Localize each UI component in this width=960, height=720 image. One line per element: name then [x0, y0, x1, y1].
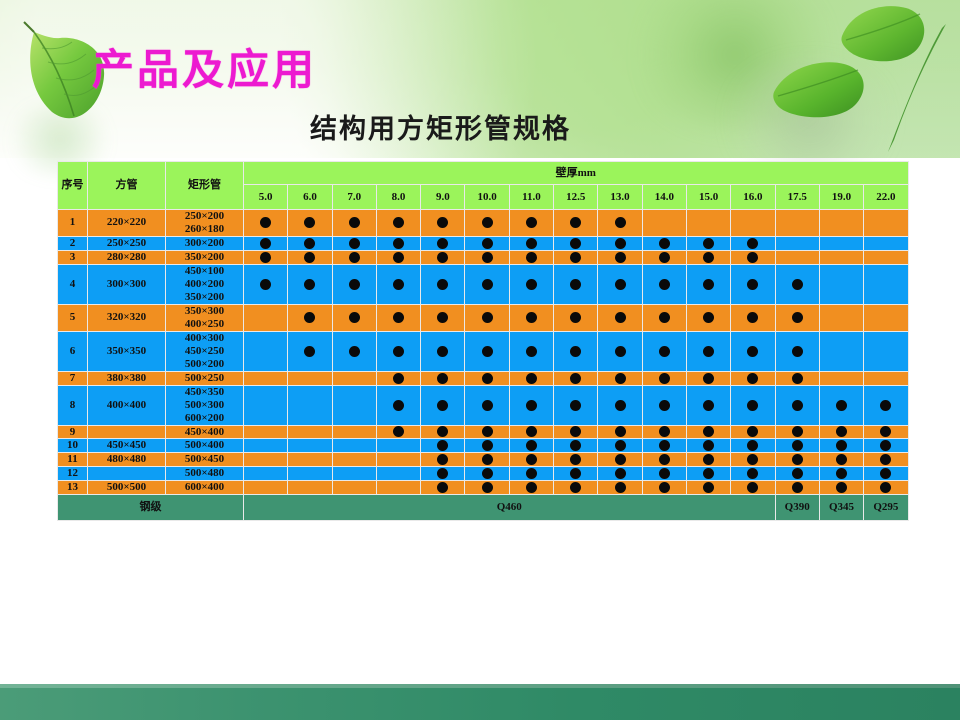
- cell-dot-marked: [598, 481, 642, 495]
- cell-index: 5: [58, 304, 88, 331]
- dot-icon: [349, 279, 360, 290]
- dot-icon: [792, 426, 803, 437]
- cell-dot-empty: [819, 371, 863, 385]
- cell-square-tube: 450×450: [88, 439, 166, 453]
- dot-icon: [703, 279, 714, 290]
- cell-dot-marked: [509, 250, 553, 264]
- cell-dot-marked: [465, 304, 509, 331]
- cell-dot-marked: [775, 304, 819, 331]
- dot-icon: [792, 312, 803, 323]
- cell-dot-marked: [686, 439, 730, 453]
- cell-dot-marked: [509, 385, 553, 425]
- cell-dot-marked: [554, 250, 598, 264]
- dot-icon: [659, 426, 670, 437]
- cell-dot-marked: [642, 467, 686, 481]
- cell-dot-marked: [598, 439, 642, 453]
- cell-dot-marked: [598, 425, 642, 439]
- col-header-thickness-15.0: 15.0: [686, 185, 730, 210]
- table-row: 2250×250300×200: [58, 236, 909, 250]
- cell-dot-marked: [819, 481, 863, 495]
- cell-rect-tube: 350×300400×250: [166, 304, 244, 331]
- cell-dot-marked: [819, 425, 863, 439]
- cell-dot-marked: [509, 481, 553, 495]
- dot-icon: [836, 426, 847, 437]
- cell-dot-marked: [244, 236, 288, 250]
- cell-dot-marked: [509, 210, 553, 237]
- cell-dot-marked: [421, 453, 465, 467]
- cell-rect-tube: 450×400: [166, 425, 244, 439]
- dot-icon: [659, 482, 670, 493]
- cell-dot-marked: [288, 250, 332, 264]
- col-header-thickness-17.5: 17.5: [775, 185, 819, 210]
- dot-icon: [659, 454, 670, 465]
- cell-rect-tube: 250×200260×180: [166, 210, 244, 237]
- col-header-rect-tube: 矩形管: [166, 162, 244, 210]
- cell-dot-marked: [642, 371, 686, 385]
- dot-icon: [482, 400, 493, 411]
- cell-dot-empty: [244, 453, 288, 467]
- dot-icon: [880, 426, 891, 437]
- dot-icon: [836, 482, 847, 493]
- cell-dot-marked: [376, 385, 420, 425]
- dot-icon: [615, 373, 626, 384]
- rect-spec-line: 400×300: [166, 332, 243, 345]
- cell-dot-marked: [642, 439, 686, 453]
- cell-index: 1: [58, 210, 88, 237]
- cell-rect-tube: 450×350500×300600×200: [166, 385, 244, 425]
- dot-icon: [570, 346, 581, 357]
- dot-icon: [437, 217, 448, 228]
- cell-dot-marked: [376, 425, 420, 439]
- dot-icon: [304, 217, 315, 228]
- table-row: 10450×450500×400: [58, 439, 909, 453]
- cell-dot-marked: [421, 264, 465, 304]
- rect-spec-line: 450×400: [166, 426, 243, 439]
- rect-spec-line: 500×480: [166, 467, 243, 480]
- dot-icon: [482, 346, 493, 357]
- dot-icon: [260, 279, 271, 290]
- cell-dot-marked: [554, 264, 598, 304]
- cell-dot-empty: [642, 210, 686, 237]
- cell-dot-marked: [731, 467, 775, 481]
- cell-dot-empty: [244, 331, 288, 371]
- cell-index: 2: [58, 236, 88, 250]
- cell-rect-tube: 600×400: [166, 481, 244, 495]
- rect-spec-line: 350×300: [166, 305, 243, 318]
- dot-icon: [482, 482, 493, 493]
- cell-square-tube: 320×320: [88, 304, 166, 331]
- cell-dot-marked: [731, 453, 775, 467]
- rect-spec-line: 300×200: [166, 237, 243, 250]
- dot-icon: [792, 454, 803, 465]
- cell-dot-marked: [864, 385, 908, 425]
- dot-icon: [570, 400, 581, 411]
- cell-dot-marked: [376, 371, 420, 385]
- dot-icon: [260, 217, 271, 228]
- cell-dot-empty: [819, 264, 863, 304]
- dot-icon: [703, 468, 714, 479]
- dot-icon: [482, 454, 493, 465]
- rect-spec-line: 600×200: [166, 412, 243, 425]
- dot-icon: [437, 238, 448, 249]
- cell-dot-marked: [731, 481, 775, 495]
- cell-rect-tube: 500×250: [166, 371, 244, 385]
- cell-dot-marked: [598, 331, 642, 371]
- cell-dot-marked: [465, 236, 509, 250]
- cell-dot-empty: [332, 371, 376, 385]
- cell-dot-empty: [244, 385, 288, 425]
- rect-spec-line: 500×200: [166, 358, 243, 371]
- dot-icon: [482, 468, 493, 479]
- cell-dot-marked: [731, 371, 775, 385]
- dot-icon: [703, 482, 714, 493]
- dot-icon: [703, 252, 714, 263]
- cell-square-tube: 350×350: [88, 331, 166, 371]
- dot-icon: [393, 426, 404, 437]
- dot-icon: [349, 238, 360, 249]
- col-header-thickness-12.5: 12.5: [554, 185, 598, 210]
- cell-dot-empty: [864, 236, 908, 250]
- table-body: 1220×220250×200260×1802250×250300×200328…: [58, 210, 909, 495]
- cell-dot-marked: [642, 264, 686, 304]
- cell-dot-empty: [819, 304, 863, 331]
- dot-icon: [482, 426, 493, 437]
- cell-rect-tube: 500×480: [166, 467, 244, 481]
- cell-dot-empty: [775, 210, 819, 237]
- dot-icon: [526, 373, 537, 384]
- table-row: 1220×220250×200260×180: [58, 210, 909, 237]
- cell-dot-empty: [244, 481, 288, 495]
- col-header-thickness-14.0: 14.0: [642, 185, 686, 210]
- cell-dot-marked: [465, 264, 509, 304]
- dot-icon: [792, 400, 803, 411]
- dot-icon: [747, 482, 758, 493]
- dot-icon: [703, 440, 714, 451]
- cell-dot-marked: [288, 331, 332, 371]
- cell-dot-marked: [642, 304, 686, 331]
- cell-dot-marked: [421, 371, 465, 385]
- dot-icon: [304, 312, 315, 323]
- table-row: 7380×380500×250: [58, 371, 909, 385]
- dot-icon: [570, 312, 581, 323]
- dot-icon: [615, 468, 626, 479]
- col-header-thickness-13.0: 13.0: [598, 185, 642, 210]
- dot-icon: [482, 252, 493, 263]
- dot-icon: [437, 252, 448, 263]
- cell-dot-marked: [554, 331, 598, 371]
- dot-icon: [570, 373, 581, 384]
- cell-dot-empty: [864, 210, 908, 237]
- dot-icon: [526, 238, 537, 249]
- cell-dot-marked: [686, 250, 730, 264]
- cell-dot-empty: [332, 439, 376, 453]
- cell-dot-marked: [509, 236, 553, 250]
- rect-spec-line: 450×350: [166, 386, 243, 399]
- dot-icon: [703, 346, 714, 357]
- col-header-thickness-9.0: 9.0: [421, 185, 465, 210]
- cell-dot-marked: [509, 467, 553, 481]
- cell-dot-marked: [864, 467, 908, 481]
- cell-index: 6: [58, 331, 88, 371]
- dot-icon: [570, 468, 581, 479]
- rect-spec-line: 500×250: [166, 372, 243, 385]
- dot-icon: [526, 440, 537, 451]
- dot-icon: [437, 346, 448, 357]
- dot-icon: [570, 217, 581, 228]
- cell-dot-empty: [819, 210, 863, 237]
- dot-icon: [659, 238, 670, 249]
- dot-icon: [393, 346, 404, 357]
- cell-dot-marked: [775, 481, 819, 495]
- dot-icon: [437, 400, 448, 411]
- cell-dot-marked: [554, 453, 598, 467]
- cell-dot-empty: [864, 331, 908, 371]
- dot-icon: [482, 312, 493, 323]
- dot-icon: [615, 400, 626, 411]
- dot-icon: [304, 346, 315, 357]
- dot-icon: [437, 482, 448, 493]
- dot-icon: [615, 440, 626, 451]
- cell-rect-tube: 450×100400×200350×200: [166, 264, 244, 304]
- rect-spec-line: 350×200: [166, 291, 243, 304]
- cell-dot-marked: [598, 264, 642, 304]
- cell-dot-marked: [864, 425, 908, 439]
- dot-icon: [792, 482, 803, 493]
- dot-icon: [703, 312, 714, 323]
- dot-icon: [570, 440, 581, 451]
- cell-dot-marked: [642, 236, 686, 250]
- cell-dot-marked: [376, 331, 420, 371]
- cell-dot-marked: [642, 250, 686, 264]
- table-header-row-1: 序号 方管 矩形管 壁厚mm: [58, 162, 909, 185]
- cell-rect-tube: 350×200: [166, 250, 244, 264]
- cell-dot-empty: [332, 467, 376, 481]
- dot-icon: [659, 279, 670, 290]
- cell-dot-empty: [288, 385, 332, 425]
- cell-dot-empty: [819, 331, 863, 371]
- cell-dot-empty: [244, 425, 288, 439]
- dot-icon: [836, 468, 847, 479]
- cell-dot-marked: [731, 331, 775, 371]
- dot-icon: [615, 426, 626, 437]
- dot-icon: [836, 400, 847, 411]
- dot-icon: [659, 312, 670, 323]
- dot-icon: [482, 279, 493, 290]
- cell-dot-marked: [465, 453, 509, 467]
- cell-dot-marked: [686, 331, 730, 371]
- cell-rect-tube: 300×200: [166, 236, 244, 250]
- dot-icon: [615, 312, 626, 323]
- cell-dot-marked: [332, 331, 376, 371]
- dot-icon: [437, 426, 448, 437]
- dot-icon: [570, 454, 581, 465]
- dot-icon: [349, 312, 360, 323]
- dot-icon: [747, 440, 758, 451]
- dot-icon: [526, 346, 537, 357]
- table-row: 9450×400: [58, 425, 909, 439]
- table-row: 4300×300450×100400×200350×200: [58, 264, 909, 304]
- dot-icon: [836, 440, 847, 451]
- col-header-thickness-7.0: 7.0: [332, 185, 376, 210]
- dot-icon: [792, 279, 803, 290]
- dot-icon: [747, 346, 758, 357]
- dot-icon: [792, 440, 803, 451]
- dot-icon: [747, 279, 758, 290]
- cell-dot-marked: [731, 236, 775, 250]
- dot-icon: [526, 312, 537, 323]
- grade-label: 钢级: [58, 495, 244, 521]
- dot-icon: [393, 238, 404, 249]
- cell-dot-marked: [509, 453, 553, 467]
- cell-dot-marked: [554, 425, 598, 439]
- dot-icon: [437, 373, 448, 384]
- rect-spec-line: 450×100: [166, 265, 243, 278]
- cell-dot-empty: [376, 453, 420, 467]
- cell-dot-marked: [421, 331, 465, 371]
- cell-dot-marked: [554, 439, 598, 453]
- cell-dot-marked: [642, 385, 686, 425]
- table-head: 序号 方管 矩形管 壁厚mm 5.06.07.08.09.010.011.012…: [58, 162, 909, 210]
- cell-index: 8: [58, 385, 88, 425]
- rect-spec-line: 400×250: [166, 318, 243, 331]
- cell-square-tube: 380×380: [88, 371, 166, 385]
- cell-dot-marked: [376, 210, 420, 237]
- col-header-thickness-22.0: 22.0: [864, 185, 908, 210]
- dot-icon: [836, 454, 847, 465]
- dot-icon: [659, 440, 670, 451]
- slide-canvas: 产品及应用 结构用方矩形管规格 序号 方管 矩形管 壁厚mm 5.06.07.0…: [0, 0, 960, 720]
- table-row: 12500×480: [58, 467, 909, 481]
- cell-dot-empty: [864, 304, 908, 331]
- cell-dot-marked: [686, 371, 730, 385]
- cell-dot-empty: [775, 250, 819, 264]
- rect-spec-line: 600×400: [166, 481, 243, 494]
- cell-dot-marked: [421, 236, 465, 250]
- cell-dot-marked: [554, 236, 598, 250]
- dot-icon: [659, 252, 670, 263]
- cell-dot-empty: [332, 425, 376, 439]
- dot-icon: [703, 400, 714, 411]
- cell-square-tube: 300×300: [88, 264, 166, 304]
- cell-dot-marked: [332, 264, 376, 304]
- dot-icon: [747, 400, 758, 411]
- cell-dot-marked: [686, 304, 730, 331]
- dot-icon: [659, 400, 670, 411]
- dot-icon: [526, 252, 537, 263]
- cell-dot-marked: [598, 210, 642, 237]
- dot-icon: [615, 346, 626, 357]
- cell-square-tube: 250×250: [88, 236, 166, 250]
- col-header-thickness-10.0: 10.0: [465, 185, 509, 210]
- cell-dot-empty: [288, 425, 332, 439]
- cell-dot-empty: [376, 467, 420, 481]
- dot-icon: [526, 279, 537, 290]
- cell-dot-marked: [819, 439, 863, 453]
- cell-dot-marked: [686, 467, 730, 481]
- dot-icon: [437, 279, 448, 290]
- dot-icon: [349, 252, 360, 263]
- cell-dot-marked: [686, 425, 730, 439]
- footer-band: [0, 688, 960, 720]
- dot-icon: [304, 279, 315, 290]
- cell-dot-marked: [686, 236, 730, 250]
- dot-icon: [659, 373, 670, 384]
- cell-square-tube: 500×500: [88, 481, 166, 495]
- cell-dot-empty: [244, 304, 288, 331]
- cell-dot-marked: [775, 467, 819, 481]
- cell-dot-marked: [864, 481, 908, 495]
- cell-dot-marked: [421, 250, 465, 264]
- dot-icon: [393, 373, 404, 384]
- cell-dot-empty: [819, 250, 863, 264]
- grade-value-Q295: Q295: [864, 495, 908, 521]
- cell-index: 9: [58, 425, 88, 439]
- cell-dot-marked: [686, 264, 730, 304]
- cell-dot-marked: [686, 481, 730, 495]
- cell-dot-marked: [775, 371, 819, 385]
- cell-dot-marked: [421, 385, 465, 425]
- spec-table-wrapper: 序号 方管 矩形管 壁厚mm 5.06.07.08.09.010.011.012…: [57, 161, 908, 521]
- cell-dot-marked: [642, 425, 686, 439]
- cell-square-tube: 480×480: [88, 453, 166, 467]
- dot-icon: [437, 468, 448, 479]
- dot-icon: [703, 426, 714, 437]
- cell-dot-marked: [332, 236, 376, 250]
- cell-dot-empty: [864, 371, 908, 385]
- cell-dot-marked: [598, 453, 642, 467]
- col-header-thickness-5.0: 5.0: [244, 185, 288, 210]
- dot-icon: [349, 217, 360, 228]
- cell-dot-marked: [775, 453, 819, 467]
- dot-icon: [747, 312, 758, 323]
- dot-icon: [570, 252, 581, 263]
- cell-square-tube: 400×400: [88, 385, 166, 425]
- dot-icon: [703, 238, 714, 249]
- cell-dot-empty: [864, 264, 908, 304]
- cell-dot-marked: [775, 425, 819, 439]
- leaf-icon-right-bottom: [770, 56, 888, 126]
- dot-icon: [393, 279, 404, 290]
- cell-dot-empty: [244, 467, 288, 481]
- rect-spec-line: 250×200: [166, 210, 243, 223]
- dot-icon: [393, 312, 404, 323]
- cell-dot-marked: [421, 210, 465, 237]
- cell-dot-empty: [288, 439, 332, 453]
- cell-dot-marked: [864, 453, 908, 467]
- dot-icon: [393, 252, 404, 263]
- cell-dot-empty: [288, 481, 332, 495]
- dot-icon: [526, 482, 537, 493]
- cell-dot-empty: [332, 453, 376, 467]
- cell-dot-marked: [376, 250, 420, 264]
- dot-icon: [393, 217, 404, 228]
- page-subtitle: 结构用方矩形管规格: [310, 107, 571, 146]
- dot-icon: [615, 454, 626, 465]
- cell-dot-empty: [775, 236, 819, 250]
- dot-icon: [659, 346, 670, 357]
- col-header-thickness-6.0: 6.0: [288, 185, 332, 210]
- cell-dot-empty: [288, 467, 332, 481]
- dot-icon: [792, 346, 803, 357]
- cell-dot-marked: [465, 331, 509, 371]
- table-row: 6350×350400×300450×250500×200: [58, 331, 909, 371]
- cell-index: 4: [58, 264, 88, 304]
- cell-dot-marked: [244, 250, 288, 264]
- cell-dot-marked: [421, 481, 465, 495]
- dot-icon: [437, 440, 448, 451]
- cell-dot-empty: [244, 439, 288, 453]
- dot-icon: [526, 400, 537, 411]
